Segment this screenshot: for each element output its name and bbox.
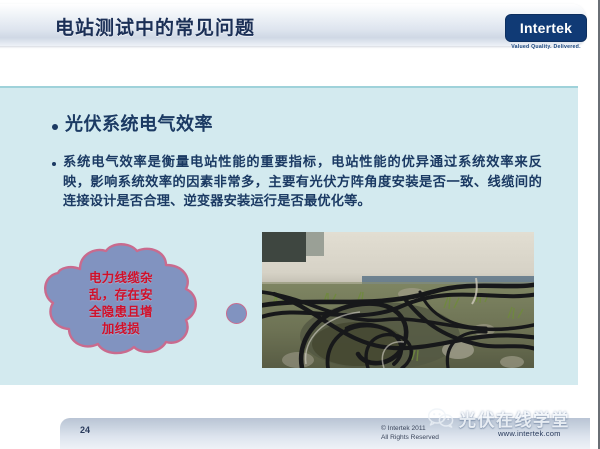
callout-line-4: 加线损 [102, 320, 140, 337]
intertek-logo: Intertek [505, 14, 587, 42]
cable-photo-illustration [262, 232, 534, 368]
bullet-primary: 光伏系统电气效率 [52, 112, 552, 138]
bullet-dot-icon [52, 124, 58, 130]
intertek-logo-text: Intertek [520, 20, 572, 36]
intertek-logo-tagline: Valued Quality. Delivered. [505, 44, 587, 50]
bullet-secondary: 系统电气效率是衡量电站性能的重要指标，电站性能的优异通过系统效率来反映，影响系统… [52, 153, 542, 212]
callout-tail-dot-icon [226, 303, 247, 324]
callout-line-1: 电力线缆杂 [89, 269, 153, 286]
page-number: 24 [80, 425, 90, 435]
page-title: 电站测试中的常见问题 [55, 13, 255, 40]
callout-line-2: 乱，存在安 [89, 286, 153, 303]
copyright-line-2: All Rights Reserved [381, 433, 439, 442]
callout-text: 电力线缆杂 乱，存在安 全隐患且增 加线损 [36, 243, 206, 363]
wechat-icon [428, 408, 454, 428]
bullet-secondary-label: 系统电气效率是衡量电站性能的重要指标，电站性能的优异通过系统效率来反映，影响系统… [63, 153, 542, 212]
callout-thought-bubble: 电力线缆杂 乱，存在安 全隐患且增 加线损 [36, 243, 206, 363]
watermark-text: 光伏在线学堂 [459, 406, 570, 431]
bullet-dot-icon [52, 162, 56, 166]
callout-line-3: 全隐患且增 [89, 303, 153, 320]
watermark: 光伏在线学堂 [428, 404, 594, 432]
cable-photo [262, 232, 534, 368]
bullet-primary-label: 光伏系统电气效率 [65, 112, 213, 138]
slide: 电站测试中的常见问题 Intertek Valued Quality. Deli… [0, 0, 600, 449]
